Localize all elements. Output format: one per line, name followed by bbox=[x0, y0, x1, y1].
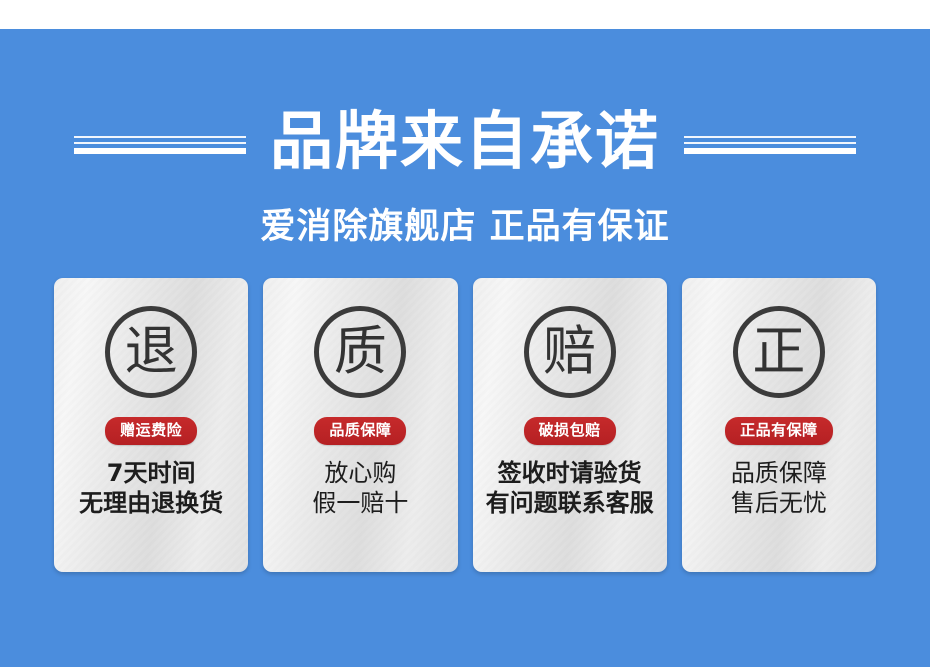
card-description: 签收时请验货 有问题联系客服 bbox=[486, 458, 654, 519]
seal-glyph: 退 bbox=[125, 325, 178, 378]
seal-circle-icon: 退 bbox=[105, 306, 197, 398]
card-description-line-2: 有问题联系客服 bbox=[486, 488, 654, 519]
guarantee-card[interactable]: 正 正品有保障 品质保障 售后无忧 bbox=[682, 278, 876, 572]
promo-banner-page: 品牌来自承诺 爱消除旗舰店 正品有保证 退 赠运费险 7天时间 无理由退换货 bbox=[0, 0, 930, 667]
guarantee-card[interactable]: 退 赠运费险 7天时间 无理由退换货 bbox=[54, 278, 248, 572]
seal-circle-icon: 正 bbox=[733, 306, 825, 398]
page-subtitle: 爱消除旗舰店 正品有保证 bbox=[0, 198, 930, 249]
card-description: 7天时间 无理由退换货 bbox=[79, 458, 223, 519]
seal-circle-icon: 质 bbox=[314, 306, 406, 398]
card-description-line-2: 假一赔十 bbox=[312, 488, 408, 519]
card-description-line-2: 售后无忧 bbox=[731, 488, 827, 519]
seal-glyph: 正 bbox=[752, 325, 805, 378]
title-row: 品牌来自承诺 bbox=[0, 100, 930, 182]
header-block: 品牌来自承诺 爱消除旗舰店 正品有保证 bbox=[0, 100, 930, 249]
card-description-line-1: 放心购 bbox=[312, 458, 408, 489]
status-badge: 正品有保障 bbox=[725, 417, 833, 445]
card-description-line-2: 无理由退换货 bbox=[79, 488, 223, 519]
card-description: 放心购 假一赔十 bbox=[312, 458, 408, 519]
status-badge: 破损包赔 bbox=[524, 417, 616, 445]
guarantee-cards-row: 退 赠运费险 7天时间 无理由退换货 质 品质保障 放心购 假一赔十 赔 破损 bbox=[54, 278, 876, 572]
guarantee-card[interactable]: 赔 破损包赔 签收时请验货 有问题联系客服 bbox=[473, 278, 667, 572]
seal-circle-icon: 赔 bbox=[524, 306, 616, 398]
card-description-line-1: 签收时请验货 bbox=[486, 458, 654, 489]
page-title: 品牌来自承诺 bbox=[270, 110, 660, 173]
decorative-rule-right-icon bbox=[684, 136, 856, 154]
seal-glyph: 赔 bbox=[543, 325, 596, 378]
card-description-line-1: 7天时间 bbox=[79, 458, 223, 489]
card-description-line-1: 品质保障 bbox=[731, 458, 827, 489]
decorative-rule-left-icon bbox=[74, 136, 246, 154]
status-badge: 品质保障 bbox=[314, 417, 406, 445]
guarantee-card[interactable]: 质 品质保障 放心购 假一赔十 bbox=[263, 278, 457, 572]
status-badge: 赠运费险 bbox=[105, 417, 197, 445]
card-description: 品质保障 售后无忧 bbox=[731, 458, 827, 519]
seal-glyph: 质 bbox=[334, 325, 387, 378]
